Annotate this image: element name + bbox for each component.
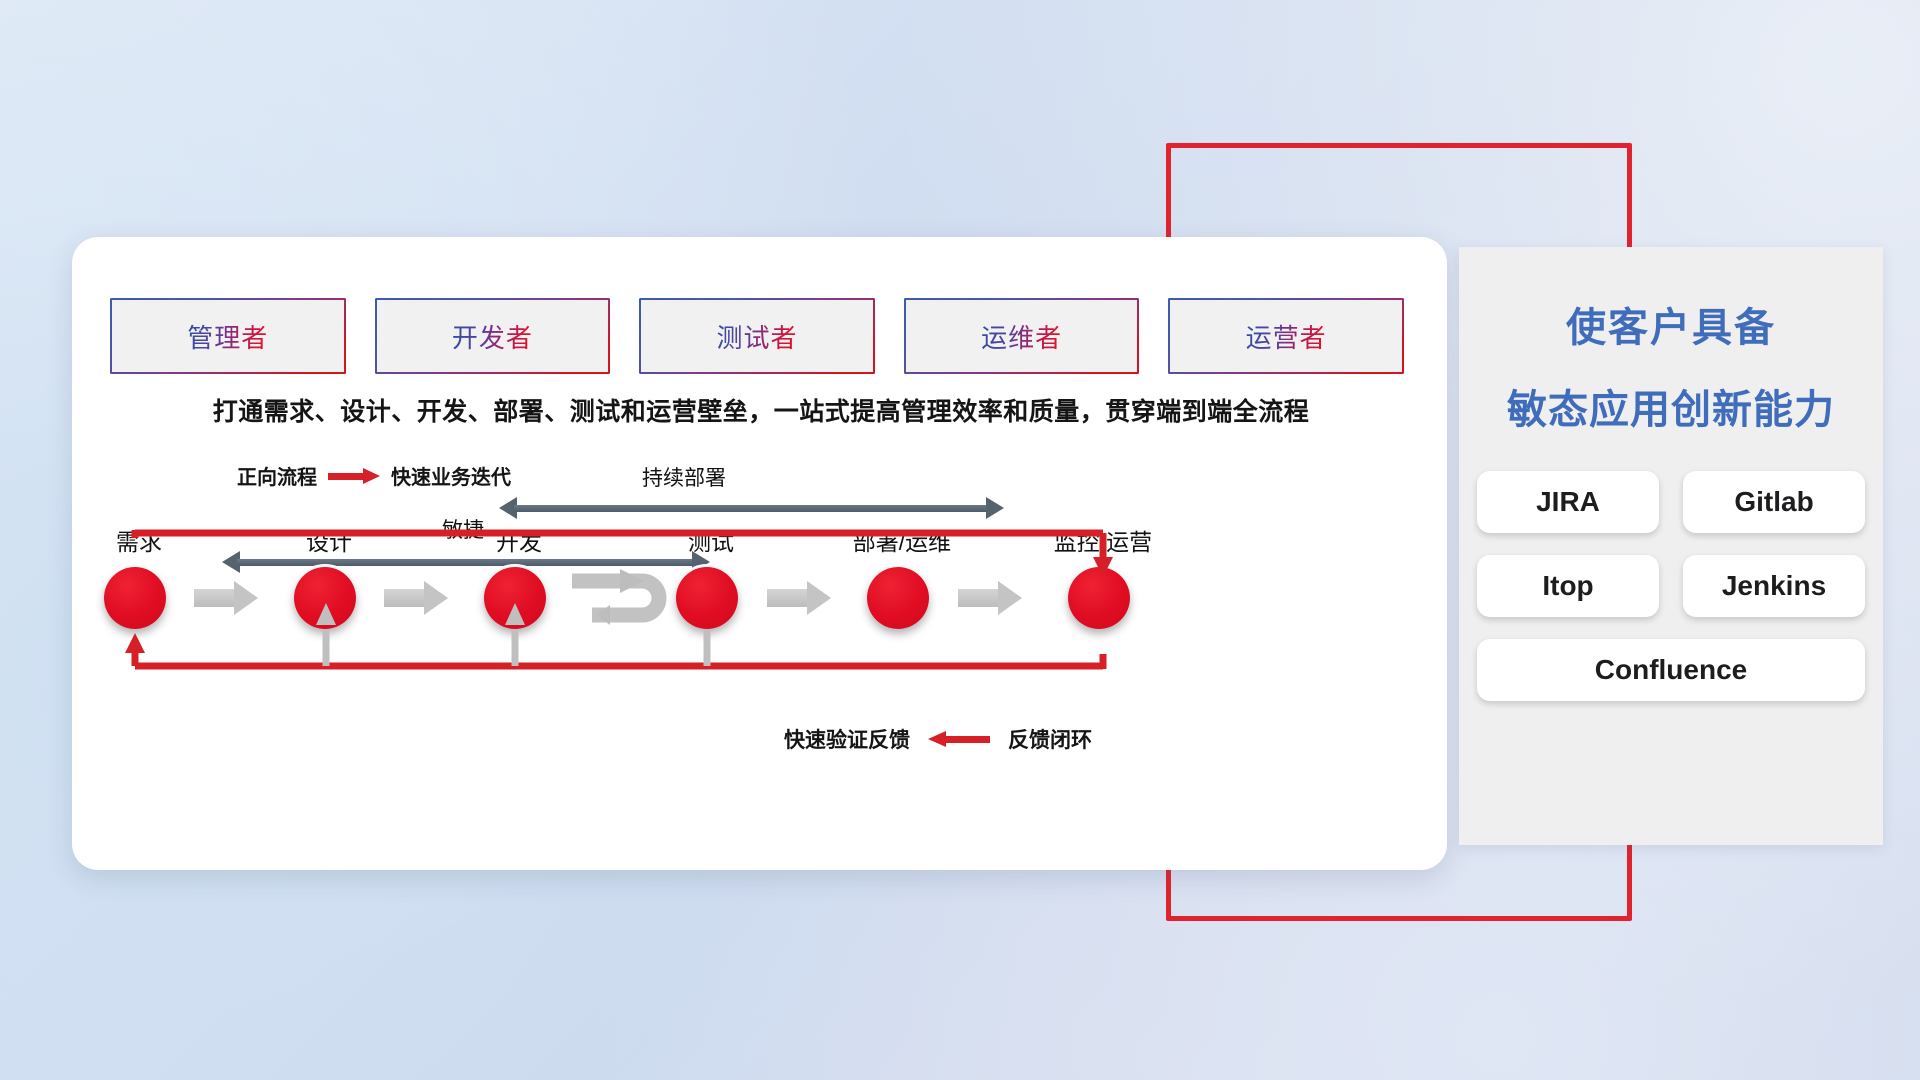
stage-node-design[interactable]: 设计 — [294, 567, 364, 629]
stage-dot — [104, 567, 166, 629]
stage-node-monitor-operate[interactable]: 监控/运营 — [1068, 567, 1138, 629]
tool-button-jira[interactable]: JIRA — [1477, 471, 1659, 533]
value-panel: 使客户具备 敏态应用创新能力 JIRA Gitlab Itop Jenkins … — [1459, 247, 1883, 845]
pipeline-arrow-2-icon — [384, 581, 448, 615]
fast-validation-label: 快速验证反馈 — [784, 724, 910, 754]
stage-node-deploy-ops[interactable]: 部署/运维 — [867, 567, 937, 629]
stage-dot — [867, 567, 929, 629]
tool-button-jenkins[interactable]: Jenkins — [1683, 555, 1865, 617]
diagram-canvas: 管理者 开发者 测试者 运维者 运营者 打通需求、设计、开发、部署、测试和运营壁… — [0, 0, 1920, 1080]
stage-label: 需求 — [54, 523, 224, 557]
pipeline-arrow-4-icon — [958, 581, 1022, 615]
stage-dot — [294, 567, 356, 629]
tool-button-grid: JIRA Gitlab Itop Jenkins Confluence — [1477, 471, 1865, 701]
stage-node-develop[interactable]: 开发 — [484, 567, 554, 629]
stage-node-requirement[interactable]: 需求 — [104, 567, 174, 629]
stage-label: 测试 — [626, 523, 796, 557]
feedback-loop-annotation: 快速验证反馈 反馈闭环 — [784, 724, 1092, 754]
tool-button-confluence[interactable]: Confluence — [1477, 639, 1865, 701]
stage-label: 部署/运维 — [817, 523, 987, 557]
stage-label: 监控/运营 — [1018, 523, 1188, 557]
pipeline-row: 需求 设计 开发 — [72, 237, 1447, 870]
uturn-loop-arrow-icon — [570, 567, 680, 629]
stage-dot — [484, 567, 546, 629]
stage-label: 设计 — [244, 523, 414, 557]
tool-button-itop[interactable]: Itop — [1477, 555, 1659, 617]
pipeline-arrow-1-icon — [194, 581, 258, 615]
stage-label: 开发 — [434, 523, 604, 557]
arrow-left-red-icon — [928, 731, 990, 747]
stage-dot — [1068, 567, 1130, 629]
stage-node-test[interactable]: 测试 — [676, 567, 746, 629]
pipeline-arrow-3-icon — [767, 581, 831, 615]
feedback-closed-loop-label: 反馈闭环 — [1008, 724, 1092, 754]
process-card: 管理者 开发者 测试者 运维者 运营者 打通需求、设计、开发、部署、测试和运营壁… — [72, 237, 1447, 870]
panel-headline-line1: 使客户具备 — [1459, 295, 1883, 353]
stage-dot — [676, 567, 738, 629]
tool-button-gitlab[interactable]: Gitlab — [1683, 471, 1865, 533]
panel-headline-line2: 敏态应用创新能力 — [1459, 377, 1883, 435]
